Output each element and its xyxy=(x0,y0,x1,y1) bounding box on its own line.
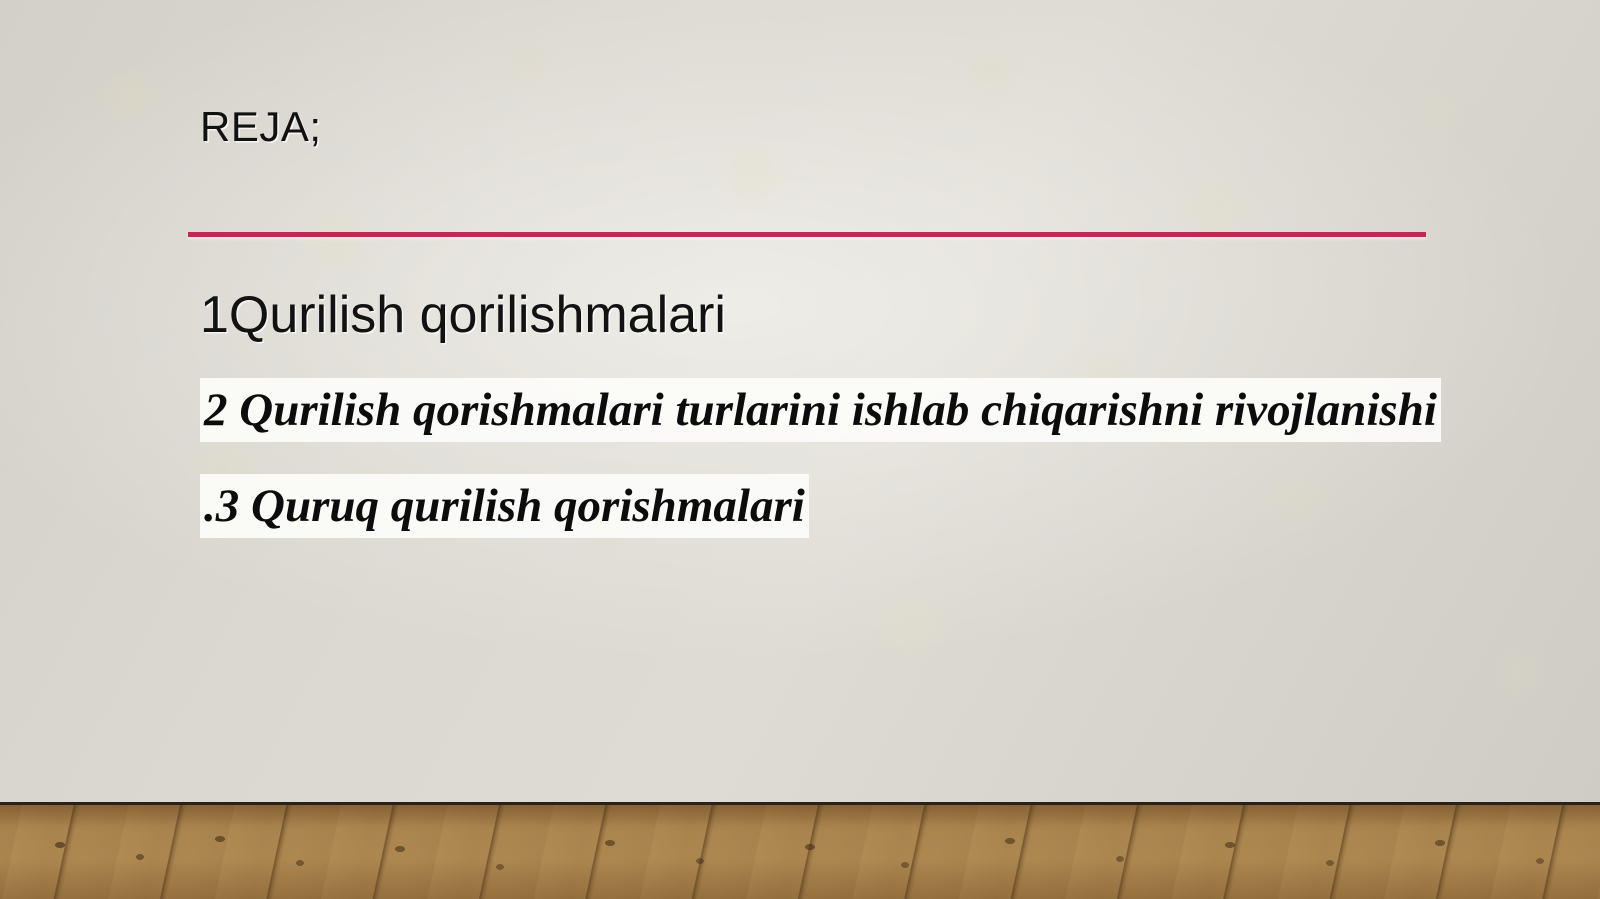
slide-body: 1Qurilish qorilishmalari 2 Qurilish qori… xyxy=(200,283,1460,547)
floor-shading xyxy=(0,805,1600,899)
agenda-item-3: .3 Quruq qurilish qorishmalari xyxy=(200,465,1460,547)
agenda-item-2-text: 2 Qurilish qorishmalari turlarini ishlab… xyxy=(200,378,1441,442)
agenda-item-2: 2 Qurilish qorishmalari turlarini ishlab… xyxy=(200,369,1460,451)
title-divider-rule xyxy=(188,232,1426,237)
agenda-item-1: 1Qurilish qorilishmalari xyxy=(200,283,1460,347)
page-title: REJA; xyxy=(200,103,322,151)
presentation-slide: REJA; 1Qurilish qorilishmalari 2 Qurilis… xyxy=(0,0,1600,899)
agenda-item-3-text: .3 Quruq qurilish qorishmalari xyxy=(200,474,809,538)
slide-background-floor xyxy=(0,802,1600,899)
slide-content: REJA; 1Qurilish qorilishmalari 2 Qurilis… xyxy=(0,0,1600,802)
